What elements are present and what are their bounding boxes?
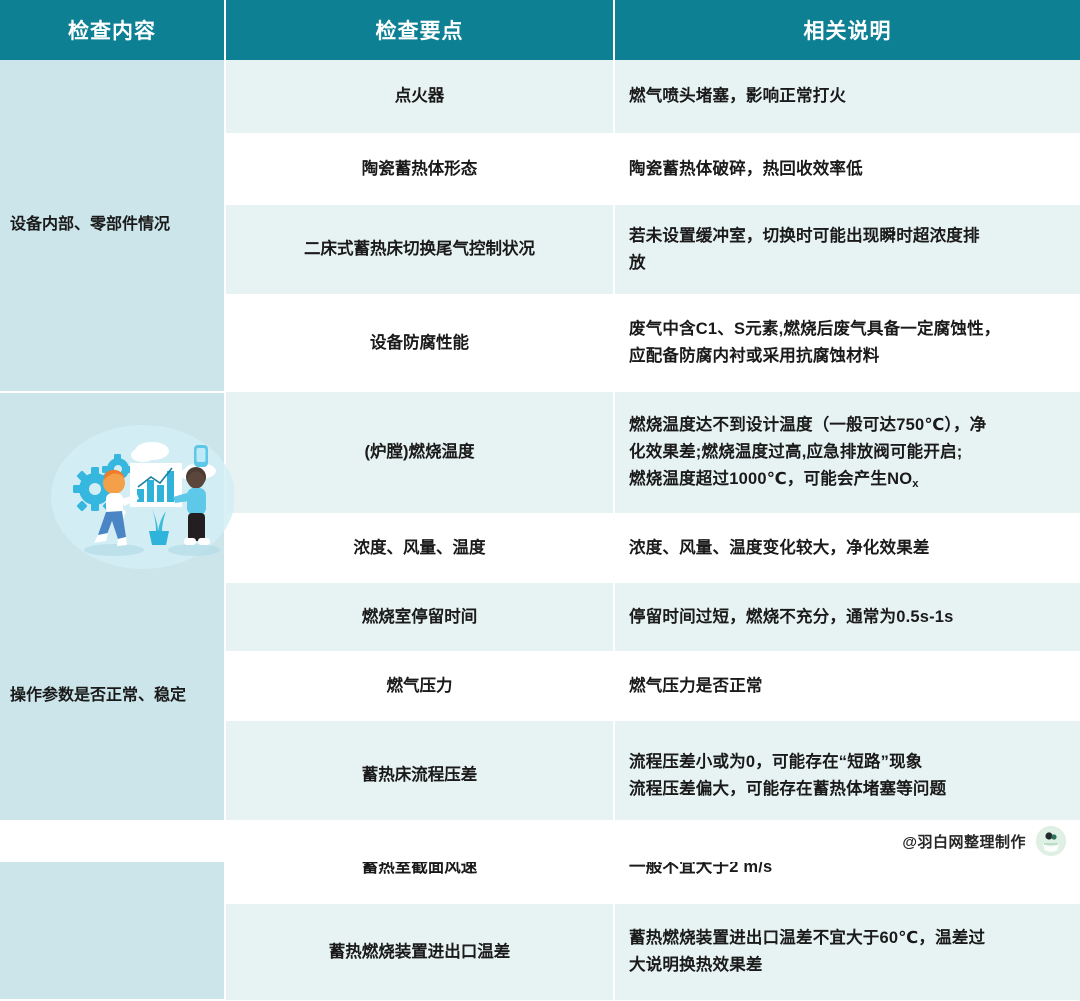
point-cell: 浓度、风量、温度 (225, 513, 614, 583)
note-line: 大说明换热效果差 (629, 952, 1070, 979)
category-cell-equipment: 设备内部、零部件情况 (0, 60, 225, 392)
column-header-notes: 相关说明 (614, 0, 1080, 60)
credit-text: @羽白网整理制作 (902, 831, 1026, 852)
note-line: 废气中含C1、S元素,燃烧后废气具备一定腐蚀性， (629, 316, 1070, 343)
table-header: 检查内容 检查要点 相关说明 (0, 0, 1080, 60)
category-label: 操作参数是否正常、稳定 (10, 684, 216, 709)
note-line: 流程压差小或为0，可能存在“短路”现象 (629, 749, 1070, 776)
note-cell: 停留时间过短，燃烧不充分，通常为0.5s-1s (614, 583, 1080, 651)
point-cell: 二床式蓄热床切换尾气控制状况 (225, 205, 614, 294)
note-line: 燃烧温度达不到设计温度（一般可达750℃），净 (629, 412, 1070, 439)
note-cell: 若未设置缓冲室，切换时可能出现瞬时超浓度排 放 (614, 205, 1080, 294)
note-cell: 流程压差小或为0，可能存在“短路”现象 流程压差偏大，可能存在蓄热体堵塞等问题 (614, 721, 1080, 830)
point-cell: 点火器 (225, 60, 614, 133)
note-cell: 燃气压力是否正常 (614, 651, 1080, 721)
note-line: 停留时间过短，燃烧不充分，通常为0.5s-1s (629, 604, 1070, 631)
note-line: 若未设置缓冲室，切换时可能出现瞬时超浓度排 (629, 223, 1070, 250)
note-line: 燃气喷头堵塞，影响正常打火 (629, 83, 1070, 110)
point-cell: (炉膛)燃烧温度 (225, 392, 614, 513)
note-line: 燃气压力是否正常 (629, 673, 1070, 700)
point-cell: 设备防腐性能 (225, 294, 614, 392)
note-cell: 陶瓷蓄热体破碎，热回收效率低 (614, 133, 1080, 205)
footer-credit-bar: @羽白网整理制作 (0, 820, 1080, 862)
note-line: 流程压差偏大，可能存在蓄热体堵塞等问题 (629, 776, 1070, 803)
note-cell: 蓄热燃烧装置进出口温差不宜大于60℃，温差过 大说明换热效果差 (614, 904, 1080, 1000)
note-line: 化效果差;燃烧温度过高,应急排放阀可能开启; (629, 439, 1070, 466)
point-cell: 蓄热燃烧装置进出口温差 (225, 904, 614, 1000)
note-cell: 燃气喷头堵塞，影响正常打火 (614, 60, 1080, 133)
column-header-points: 检查要点 (225, 0, 614, 60)
column-header-content: 检查内容 (0, 0, 225, 60)
note-cell: 燃烧温度达不到设计温度（一般可达750℃），净 化效果差;燃烧温度过高,应急排放… (614, 392, 1080, 513)
point-cell: 燃气压力 (225, 651, 614, 721)
note-cell: 浓度、风量、温度变化较大，净化效果差 (614, 513, 1080, 583)
table-row: 设备内部、零部件情况 点火器 燃气喷头堵塞，影响正常打火 (0, 60, 1080, 133)
note-line: 浓度、风量、温度变化较大，净化效果差 (629, 535, 1070, 562)
note-line: 放 (629, 250, 1070, 277)
teamwork-chart-illustration (48, 417, 234, 577)
point-cell: 蓄热床流程压差 (225, 721, 614, 830)
table-header-row: 检查内容 检查要点 相关说明 (0, 0, 1080, 60)
point-cell: 燃烧室停留时间 (225, 583, 614, 651)
note-line: 燃烧温度超过1000℃，可能会产生NOx (629, 466, 1070, 493)
note-line: 陶瓷蓄热体破碎，热回收效率低 (629, 156, 1070, 183)
table-row: 操作参数是否正常、稳定 (炉膛)燃烧温度 燃烧温度达不到设计温度（一般可达750… (0, 392, 1080, 513)
category-cell-parameters: 操作参数是否正常、稳定 (0, 392, 225, 1000)
point-cell: 陶瓷蓄热体形态 (225, 133, 614, 205)
note-cell: 废气中含C1、S元素,燃烧后废气具备一定腐蚀性， 应配备防腐内衬或采用抗腐蚀材料 (614, 294, 1080, 392)
infographic-table-sheet: 检查内容 检查要点 相关说明 设备内部、零部件情况 点火器 燃气喷头堵塞，影响正… (0, 0, 1080, 862)
note-line: 蓄热燃烧装置进出口温差不宜大于60℃，温差过 (629, 925, 1070, 952)
category-label: 设备内部、零部件情况 (10, 213, 216, 238)
brand-logo-icon (1036, 826, 1066, 856)
note-line: 应配备防腐内衬或采用抗腐蚀材料 (629, 343, 1070, 370)
